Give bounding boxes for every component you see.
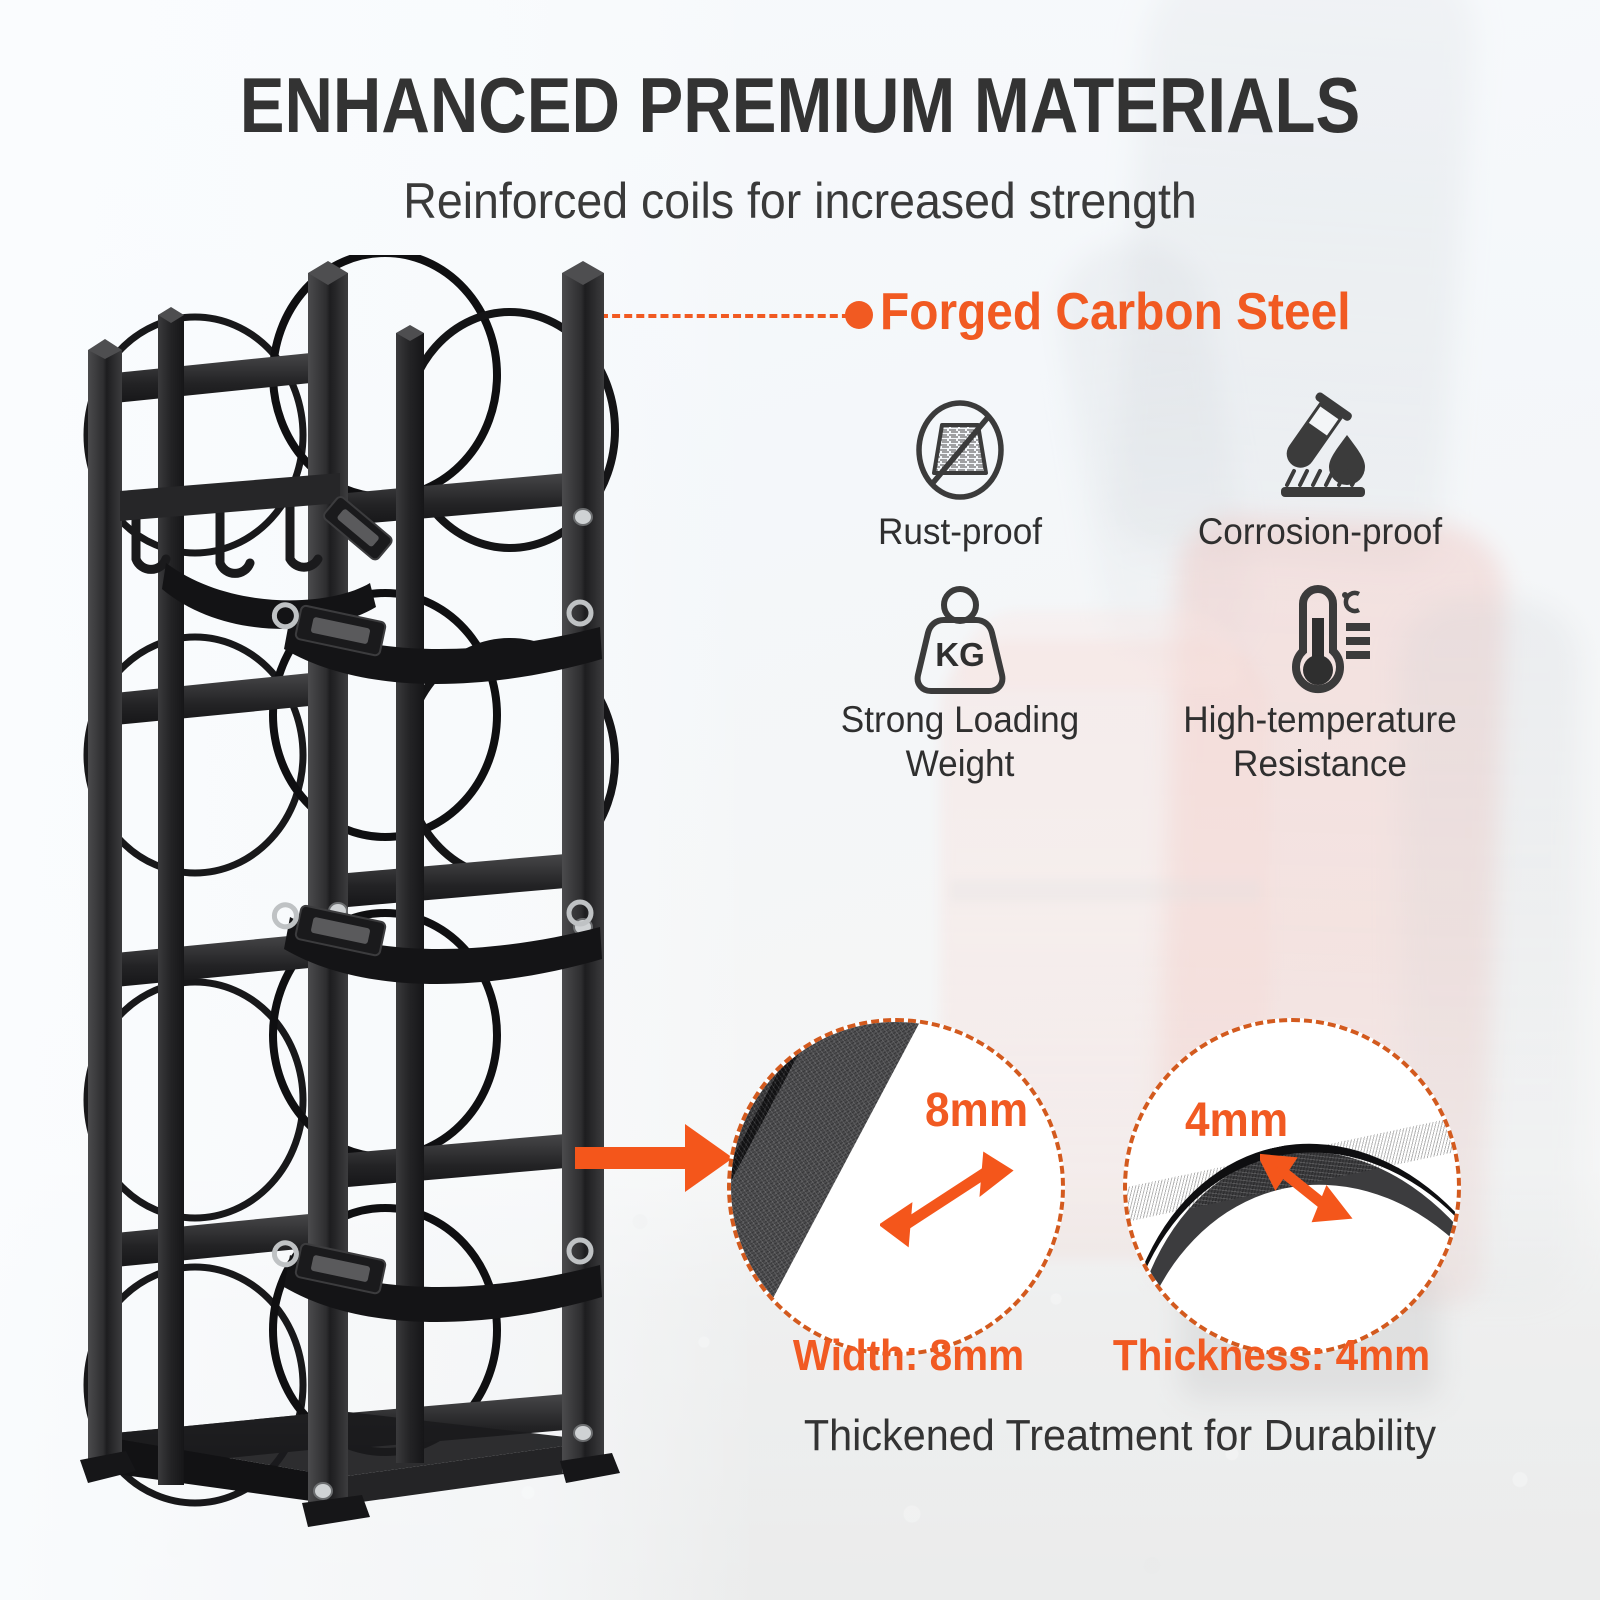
- svg-text:KG: KG: [935, 636, 985, 673]
- feature-label-line1: High-temperature: [1183, 699, 1457, 740]
- detail-footnote: Thickened Treatment for Durability: [725, 1408, 1515, 1464]
- thickness-caption: Thickness: 4mm: [1105, 1330, 1439, 1382]
- feature-label-line2: Resistance: [1233, 743, 1407, 784]
- page-subtitle: Reinforced coils for increased strength: [56, 172, 1544, 230]
- thermometer-icon: [1140, 578, 1500, 698]
- infographic-canvas: ENHANCED PREMIUM MATERIALS Reinforced co…: [0, 0, 1600, 1600]
- right-arrow-icon-shaft: [575, 1147, 695, 1169]
- double-arrow-icon-width: [880, 1145, 1020, 1255]
- right-arrow-icon-head: [685, 1124, 733, 1192]
- no-rust-icon: [780, 390, 1140, 510]
- feature-label-line1: Strong Loading: [841, 699, 1079, 740]
- double-arrow-icon-thickness: [1260, 1150, 1370, 1250]
- feature-label: Rust-proof: [789, 510, 1131, 554]
- thickness-measure-label: 4mm: [1185, 1095, 1288, 1147]
- cylinder-storage-rack: [40, 255, 640, 1545]
- feature-rust-proof: Rust-proof: [780, 390, 1140, 554]
- detail-captions: Width: 8mm Thickness: 4mm: [727, 1330, 1453, 1382]
- callout-label: Forged Carbon Steel: [880, 283, 1350, 341]
- width-caption: Width: 8mm: [742, 1330, 1076, 1382]
- feature-high-temperature-resistance: High-temperature Resistance: [1140, 578, 1500, 786]
- feature-label-line2: Weight: [906, 743, 1015, 784]
- test-tube-droplet-icon: [1140, 390, 1500, 510]
- page-title: ENHANCED PREMIUM MATERIALS: [112, 66, 1488, 144]
- width-measure-label: 8mm: [925, 1085, 1028, 1137]
- kg-weight-icon: KG: [780, 578, 1140, 698]
- feature-corrosion-proof: Corrosion-proof: [1140, 390, 1500, 554]
- feature-label: Corrosion-proof: [1149, 510, 1491, 554]
- feature-grid: Rust-proof: [760, 390, 1520, 830]
- feature-strong-loading-weight: KG Strong Loading Weight: [780, 578, 1140, 786]
- dot-marker-icon-target: [845, 301, 873, 329]
